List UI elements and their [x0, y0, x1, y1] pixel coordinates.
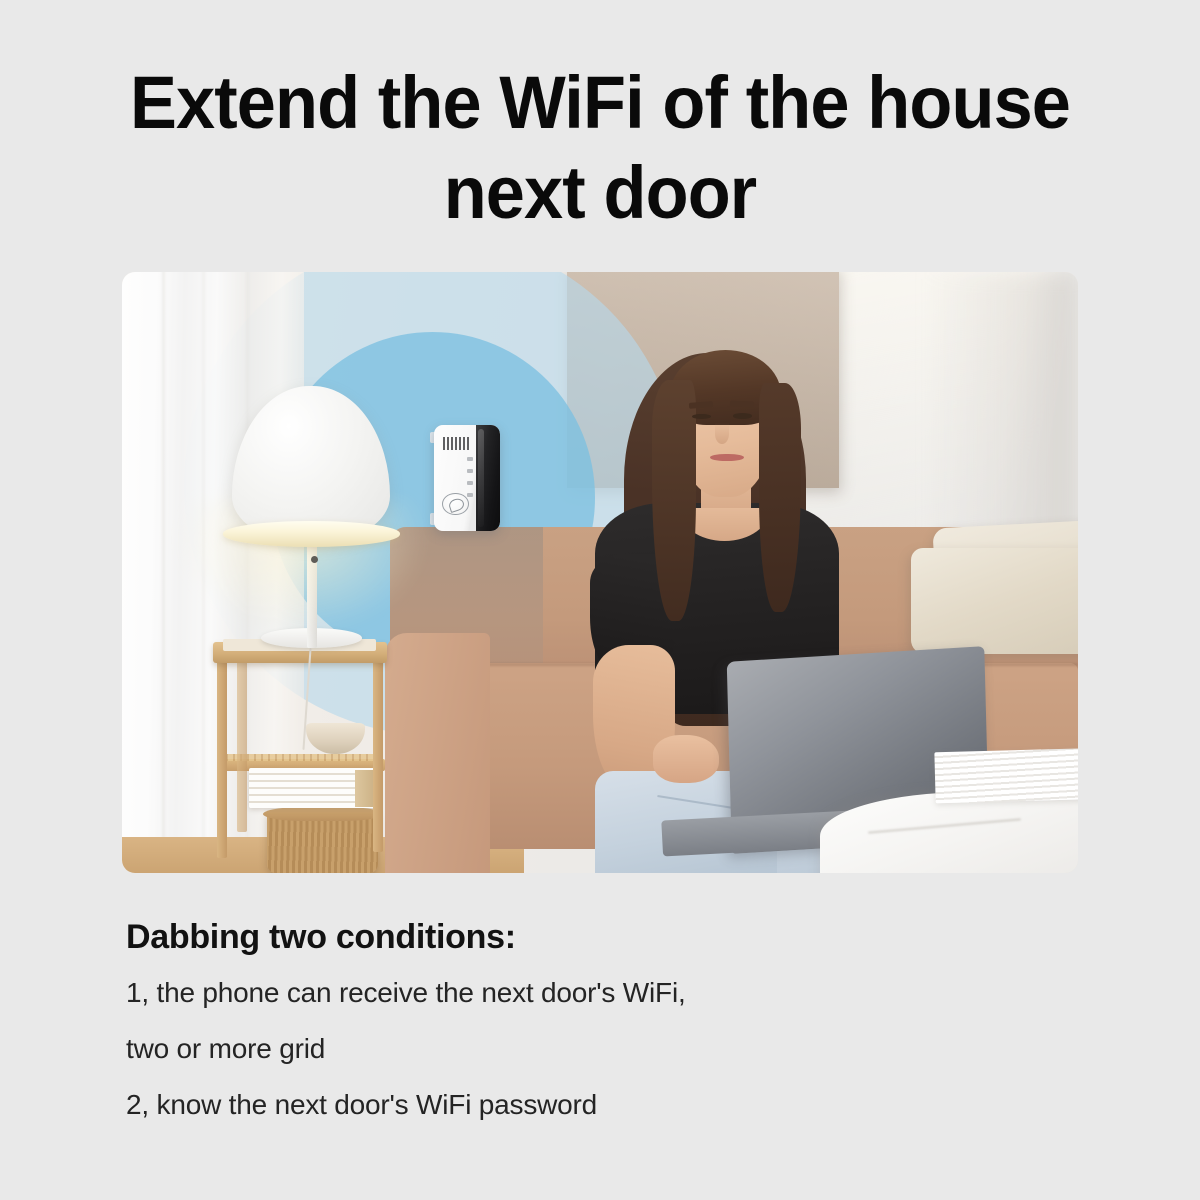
eyebrow-right: [730, 400, 754, 407]
nose: [715, 423, 729, 443]
stacked-papers: [934, 748, 1078, 804]
hair-strand-right: [759, 383, 801, 611]
condition-item: two or more grid: [126, 1035, 1066, 1063]
condition-item: 1, the phone can receive the next door's…: [126, 979, 1066, 1007]
left-hand: [653, 735, 720, 783]
product-marketing-page: Extend the WiFi of the house next door: [0, 0, 1200, 1200]
hero-photo: [122, 272, 1078, 873]
living-room-scene: [122, 272, 1078, 873]
conditions-block: Dabbing two conditions: 1, the phone can…: [126, 918, 1066, 1119]
conditions-heading: Dabbing two conditions:: [126, 918, 1066, 957]
eye-right: [733, 413, 752, 418]
condition-item: 2, know the next door's WiFi password: [126, 1091, 1066, 1119]
hair-strand-left: [652, 380, 696, 620]
page-title: Extend the WiFi of the house next door: [87, 58, 1113, 239]
